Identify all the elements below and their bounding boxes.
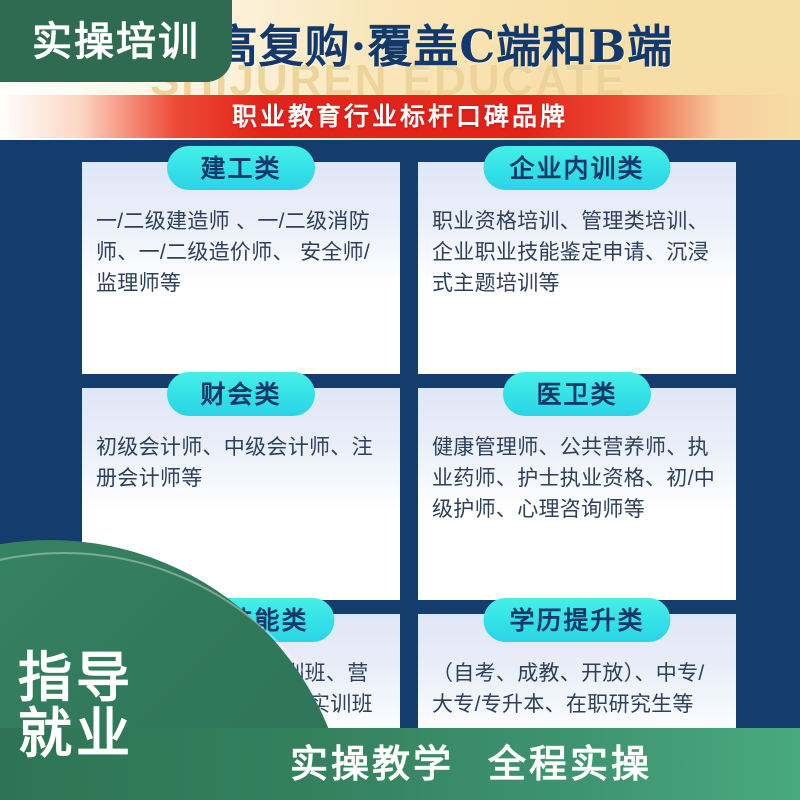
brand-badge-label: 实操培训 xyxy=(0,0,232,82)
red-banner-label: 职业教育行业标杆口碑品牌 xyxy=(0,95,800,140)
card-body-text: 职业资格培训、管理类培训、企业职业技能鉴定申请、沉浸式主题培训等 xyxy=(432,206,722,299)
card-body-text: （自考、成教、开放）、中专/大专/专升本、在职研究生等 xyxy=(432,658,722,720)
red-banner: 职业教育行业标杆口碑品牌 xyxy=(0,95,800,138)
promo-poster: SHIJUREN EDUCATE 全·高复购·覆盖C端和B端 实操培训 职业教育… xyxy=(0,0,800,800)
category-card-yiwei[interactable]: 医卫类 健康管理师、公共营养师、执业药师、护士执业资格、初/中级护师、心理咨询师… xyxy=(418,388,736,600)
card-body-text: 初级会计师、中级会计师、注册会计师等 xyxy=(96,432,386,494)
footer-text-2: 全程实操 xyxy=(488,744,652,786)
card-body-text: 健康管理师、公共营养师、执业药师、护士执业资格、初/中级护师、心理咨询师等 xyxy=(432,432,722,525)
card-title-pill: 学历提升类 xyxy=(483,598,670,642)
header-headline: 全·高复购·覆盖C端和B端 xyxy=(150,12,800,82)
card-title-pill: 建工类 xyxy=(167,146,315,190)
card-title-pill: 企业内训类 xyxy=(483,146,670,190)
card-body-text: 一/二级建造师 、一/二级消防师、一/二级造价师、 安全师/监理师等 xyxy=(96,206,386,299)
corner-slogan-line2: 就业 xyxy=(18,706,248,762)
category-card-qiyeneixun[interactable]: 企业内训类 职业资格培训、管理类培训、企业职业技能鉴定申请、沉浸式主题培训等 xyxy=(418,162,736,374)
card-title-pill: 医卫类 xyxy=(503,372,651,416)
footer-text-1: 实操教学 xyxy=(290,744,454,786)
card-title-pill: 财会类 xyxy=(167,372,315,416)
corner-slogan: 指导 就业 xyxy=(18,650,248,762)
category-card-jiangong[interactable]: 建工类 一/二级建造师 、一/二级消防师、一/二级造价师、 安全师/监理师等 xyxy=(82,162,400,374)
brand-badge: 实操培训 xyxy=(0,0,232,82)
corner-slogan-line1: 指导 xyxy=(18,648,134,708)
